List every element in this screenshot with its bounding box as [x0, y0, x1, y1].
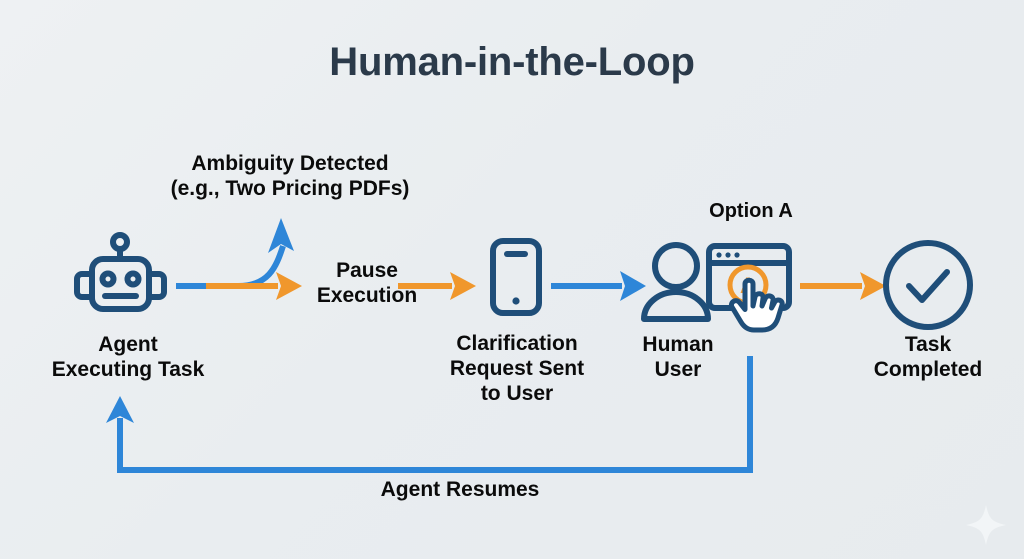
clarification-to-human-arrow — [551, 271, 646, 301]
human-user-label: Human User — [608, 333, 748, 383]
task-completed-label: Task Completed — [852, 333, 1004, 383]
agent-to-ambiguity-arrow — [176, 218, 294, 286]
check-circle-icon — [886, 243, 970, 327]
sparkle-icon — [966, 505, 1006, 545]
diagram-canvas: Human-in-the-Loop .nv { stroke: #1f4e79;… — [0, 0, 1024, 559]
clarification-label: Clarification Request Sent to User — [422, 332, 612, 406]
browser-to-completed-arrow — [800, 272, 886, 300]
agent-to-pause-arrow — [206, 272, 302, 300]
person-icon — [644, 245, 708, 319]
ambiguity-label: Ambiguity Detected (e.g., Two Pricing PD… — [130, 152, 450, 202]
robot-icon — [77, 235, 164, 309]
agent-label: Agent Executing Task — [22, 333, 234, 383]
pause-execution-label: Pause Execution — [296, 259, 438, 309]
diagram-graphics: .nv { stroke: #1f4e79; fill: none; strok… — [0, 0, 1024, 559]
mobile-phone-icon — [493, 241, 539, 313]
pointing-hand-icon — [731, 280, 782, 330]
agent-resumes-label: Agent Resumes — [340, 478, 580, 503]
option-a-label: Option A — [678, 200, 824, 224]
